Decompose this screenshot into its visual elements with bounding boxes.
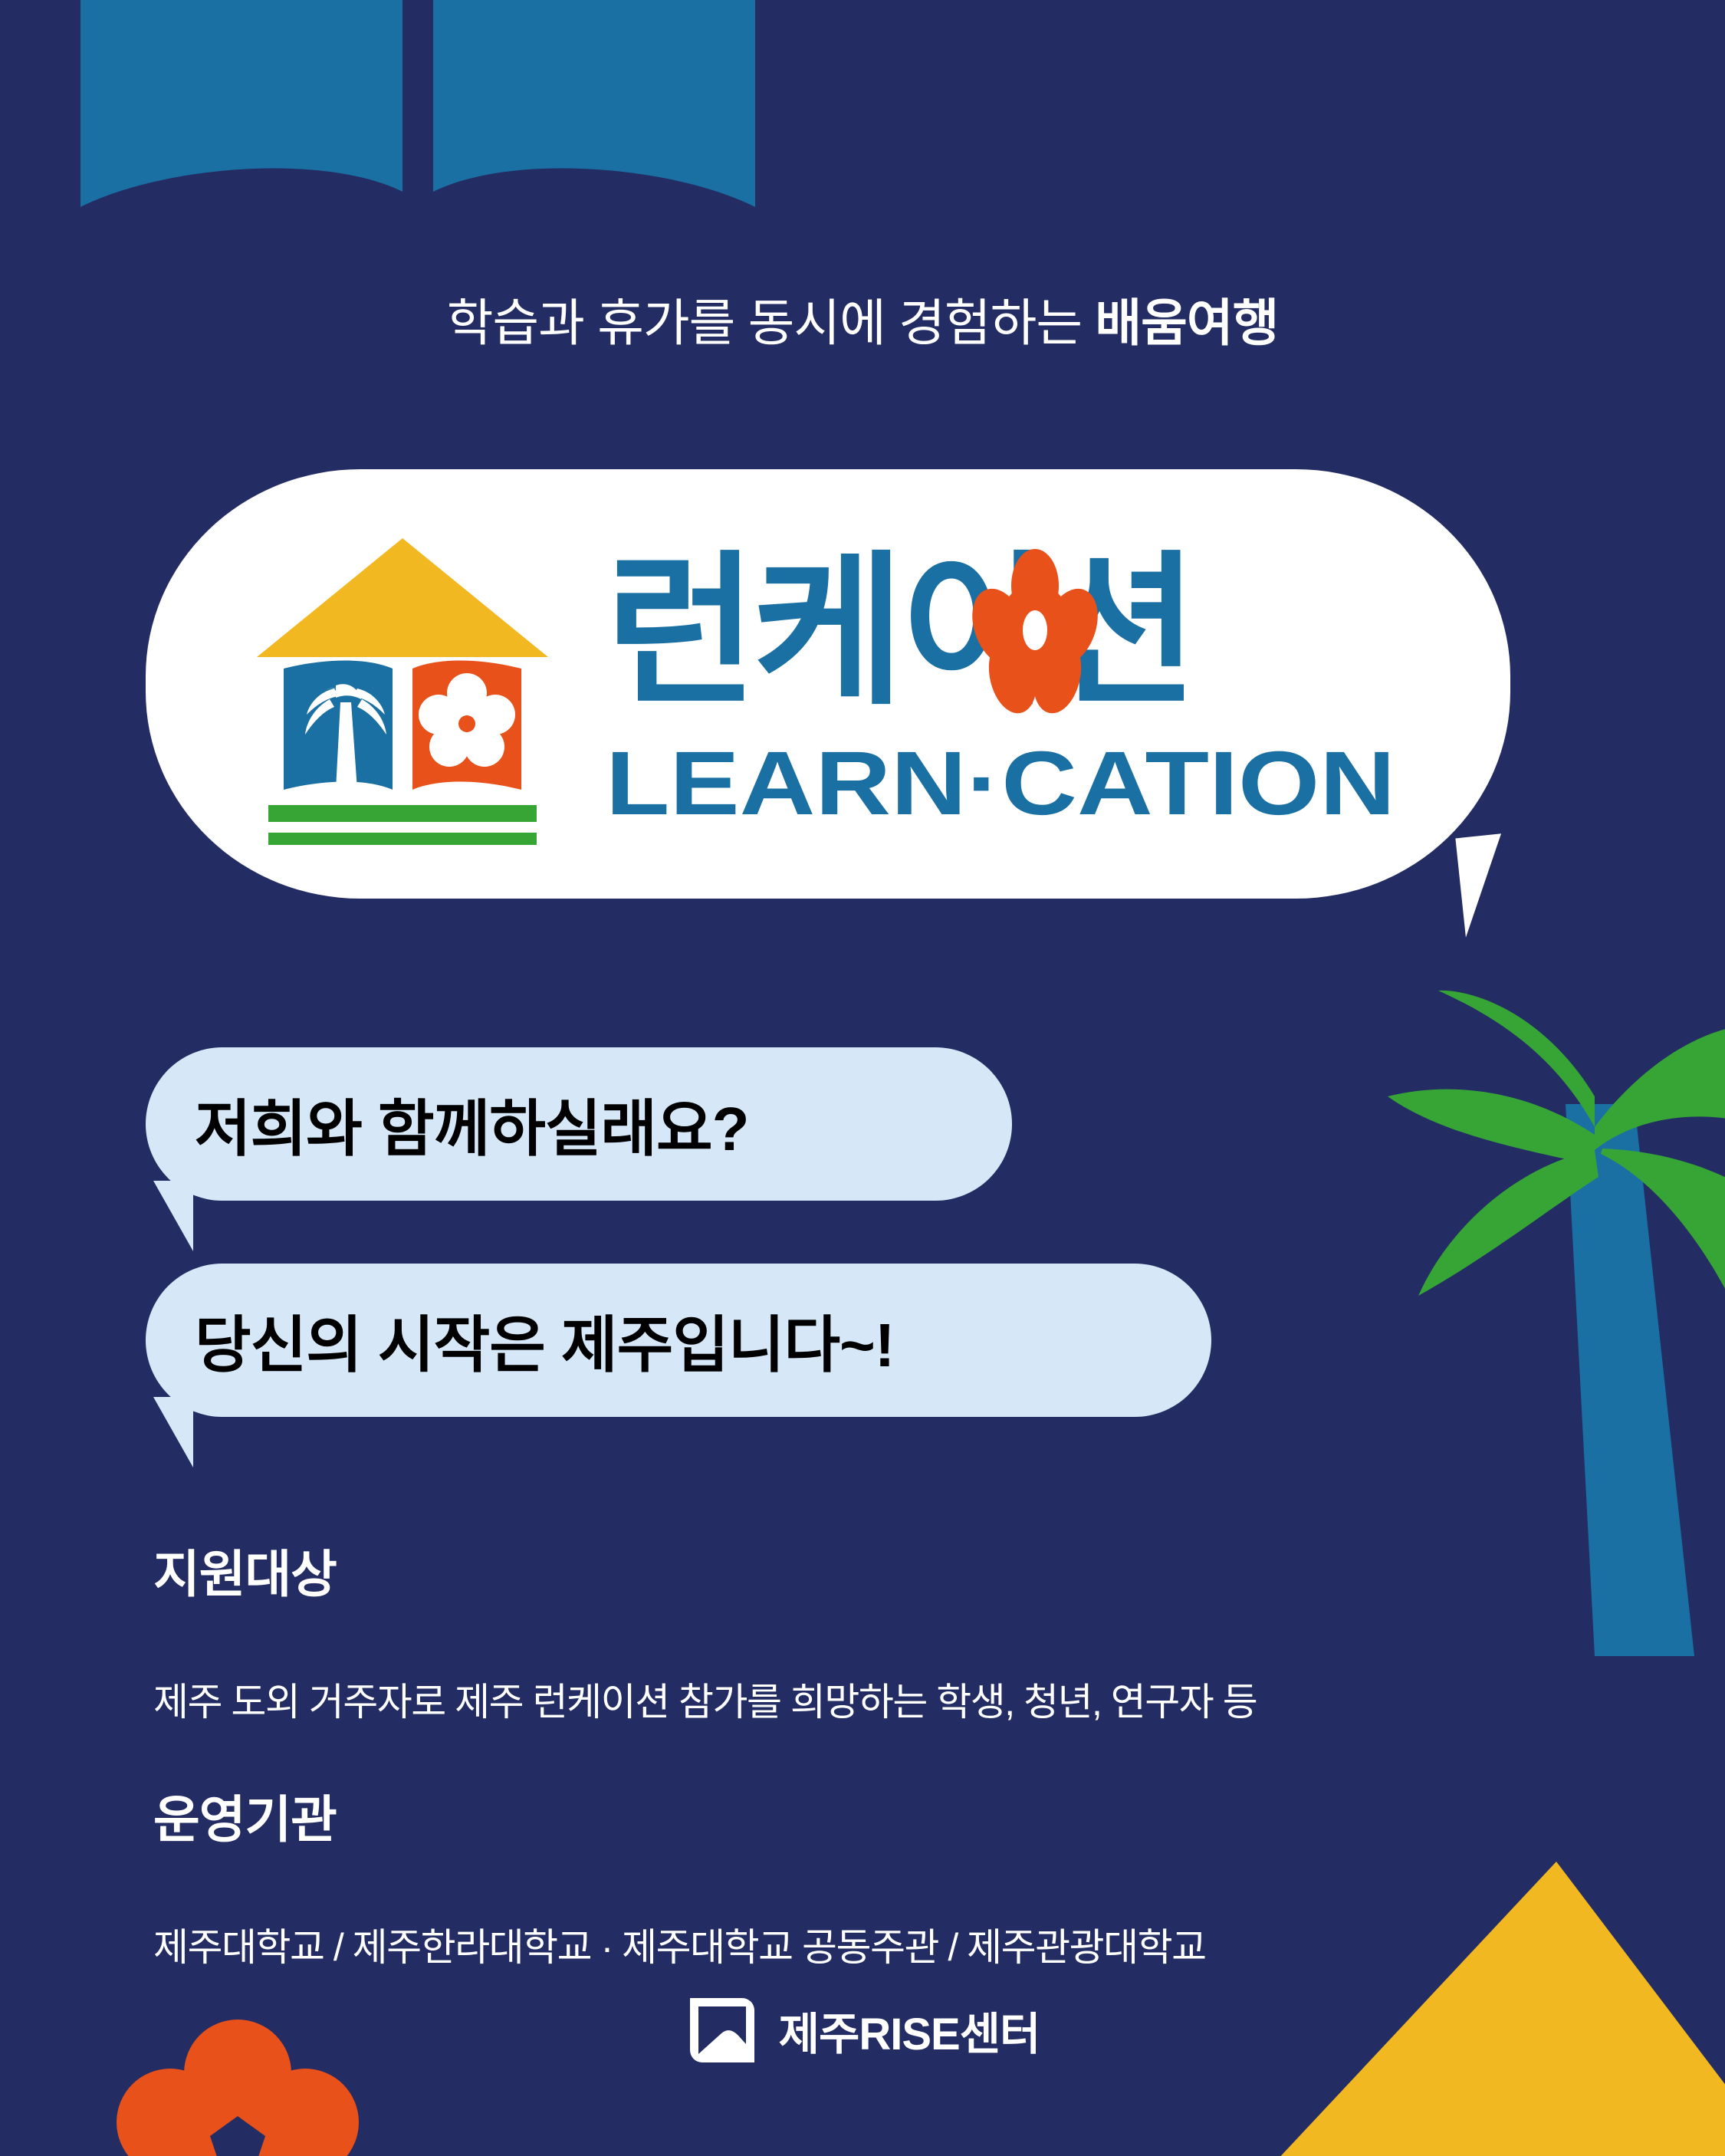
- palm-tree-icon: [1365, 974, 1725, 1656]
- poster-canvas: 학습과 휴가를 동시에 경험하는 배움여행: [0, 0, 1725, 2156]
- speech-bubble-2: 당신의 시작은 제주입니다~!: [146, 1264, 1211, 1417]
- speech-bubble-1-tail-icon: [153, 1181, 193, 1251]
- logo-wordmarks: 런케이션 LEARN·CATION: [606, 538, 1403, 830]
- logo-korean-wordmark: 런케이션: [606, 538, 1403, 730]
- section-heading-operators: 운영기관: [153, 1779, 337, 1852]
- speech-bubble-1-text: 저희와 함께하실래요?: [195, 1080, 749, 1168]
- logo-english-wordmark: LEARN·CATION: [606, 735, 1403, 830]
- logo-korean-text: 런케이션: [606, 539, 1194, 724]
- logo-english-text: LEARN·CATION: [606, 735, 1395, 830]
- page-tagline: 학습과 휴가를 동시에 경험하는 배움여행: [0, 282, 1725, 356]
- speech-bubble-2-tail-icon: [153, 1397, 193, 1467]
- speech-bubble-1: 저희와 함께하실래요?: [146, 1047, 1012, 1201]
- tagline-strong: 배움여행: [1095, 294, 1278, 351]
- speech-bubble-2-text: 당신의 시작은 제주입니다~!: [195, 1296, 894, 1385]
- brand-logo: 런케이션 LEARN·CATION: [146, 469, 1510, 899]
- open-book-icon: [73, 0, 763, 245]
- section-body-operators: 제주대학교 / 제주한라대학교 · 제주대학교 공동주관 / 제주관광대학교: [153, 1917, 1206, 1972]
- footer-organization-name: 제주RISE센터: [779, 1998, 1040, 2062]
- learncation-house-icon: [253, 523, 552, 845]
- jeju-rise-mark-icon: [685, 1993, 759, 2067]
- section-heading-eligibility: 지원대상: [153, 1533, 337, 1607]
- tagline-normal: 학습과 휴가를 동시에 경험하는: [447, 294, 1096, 351]
- section-body-eligibility: 제주 도외 거주자로 제주 런케이션 참가를 희망하는 학생, 청년, 연구자 …: [153, 1671, 1257, 1727]
- footer-logo: 제주RISE센터: [0, 1993, 1725, 2067]
